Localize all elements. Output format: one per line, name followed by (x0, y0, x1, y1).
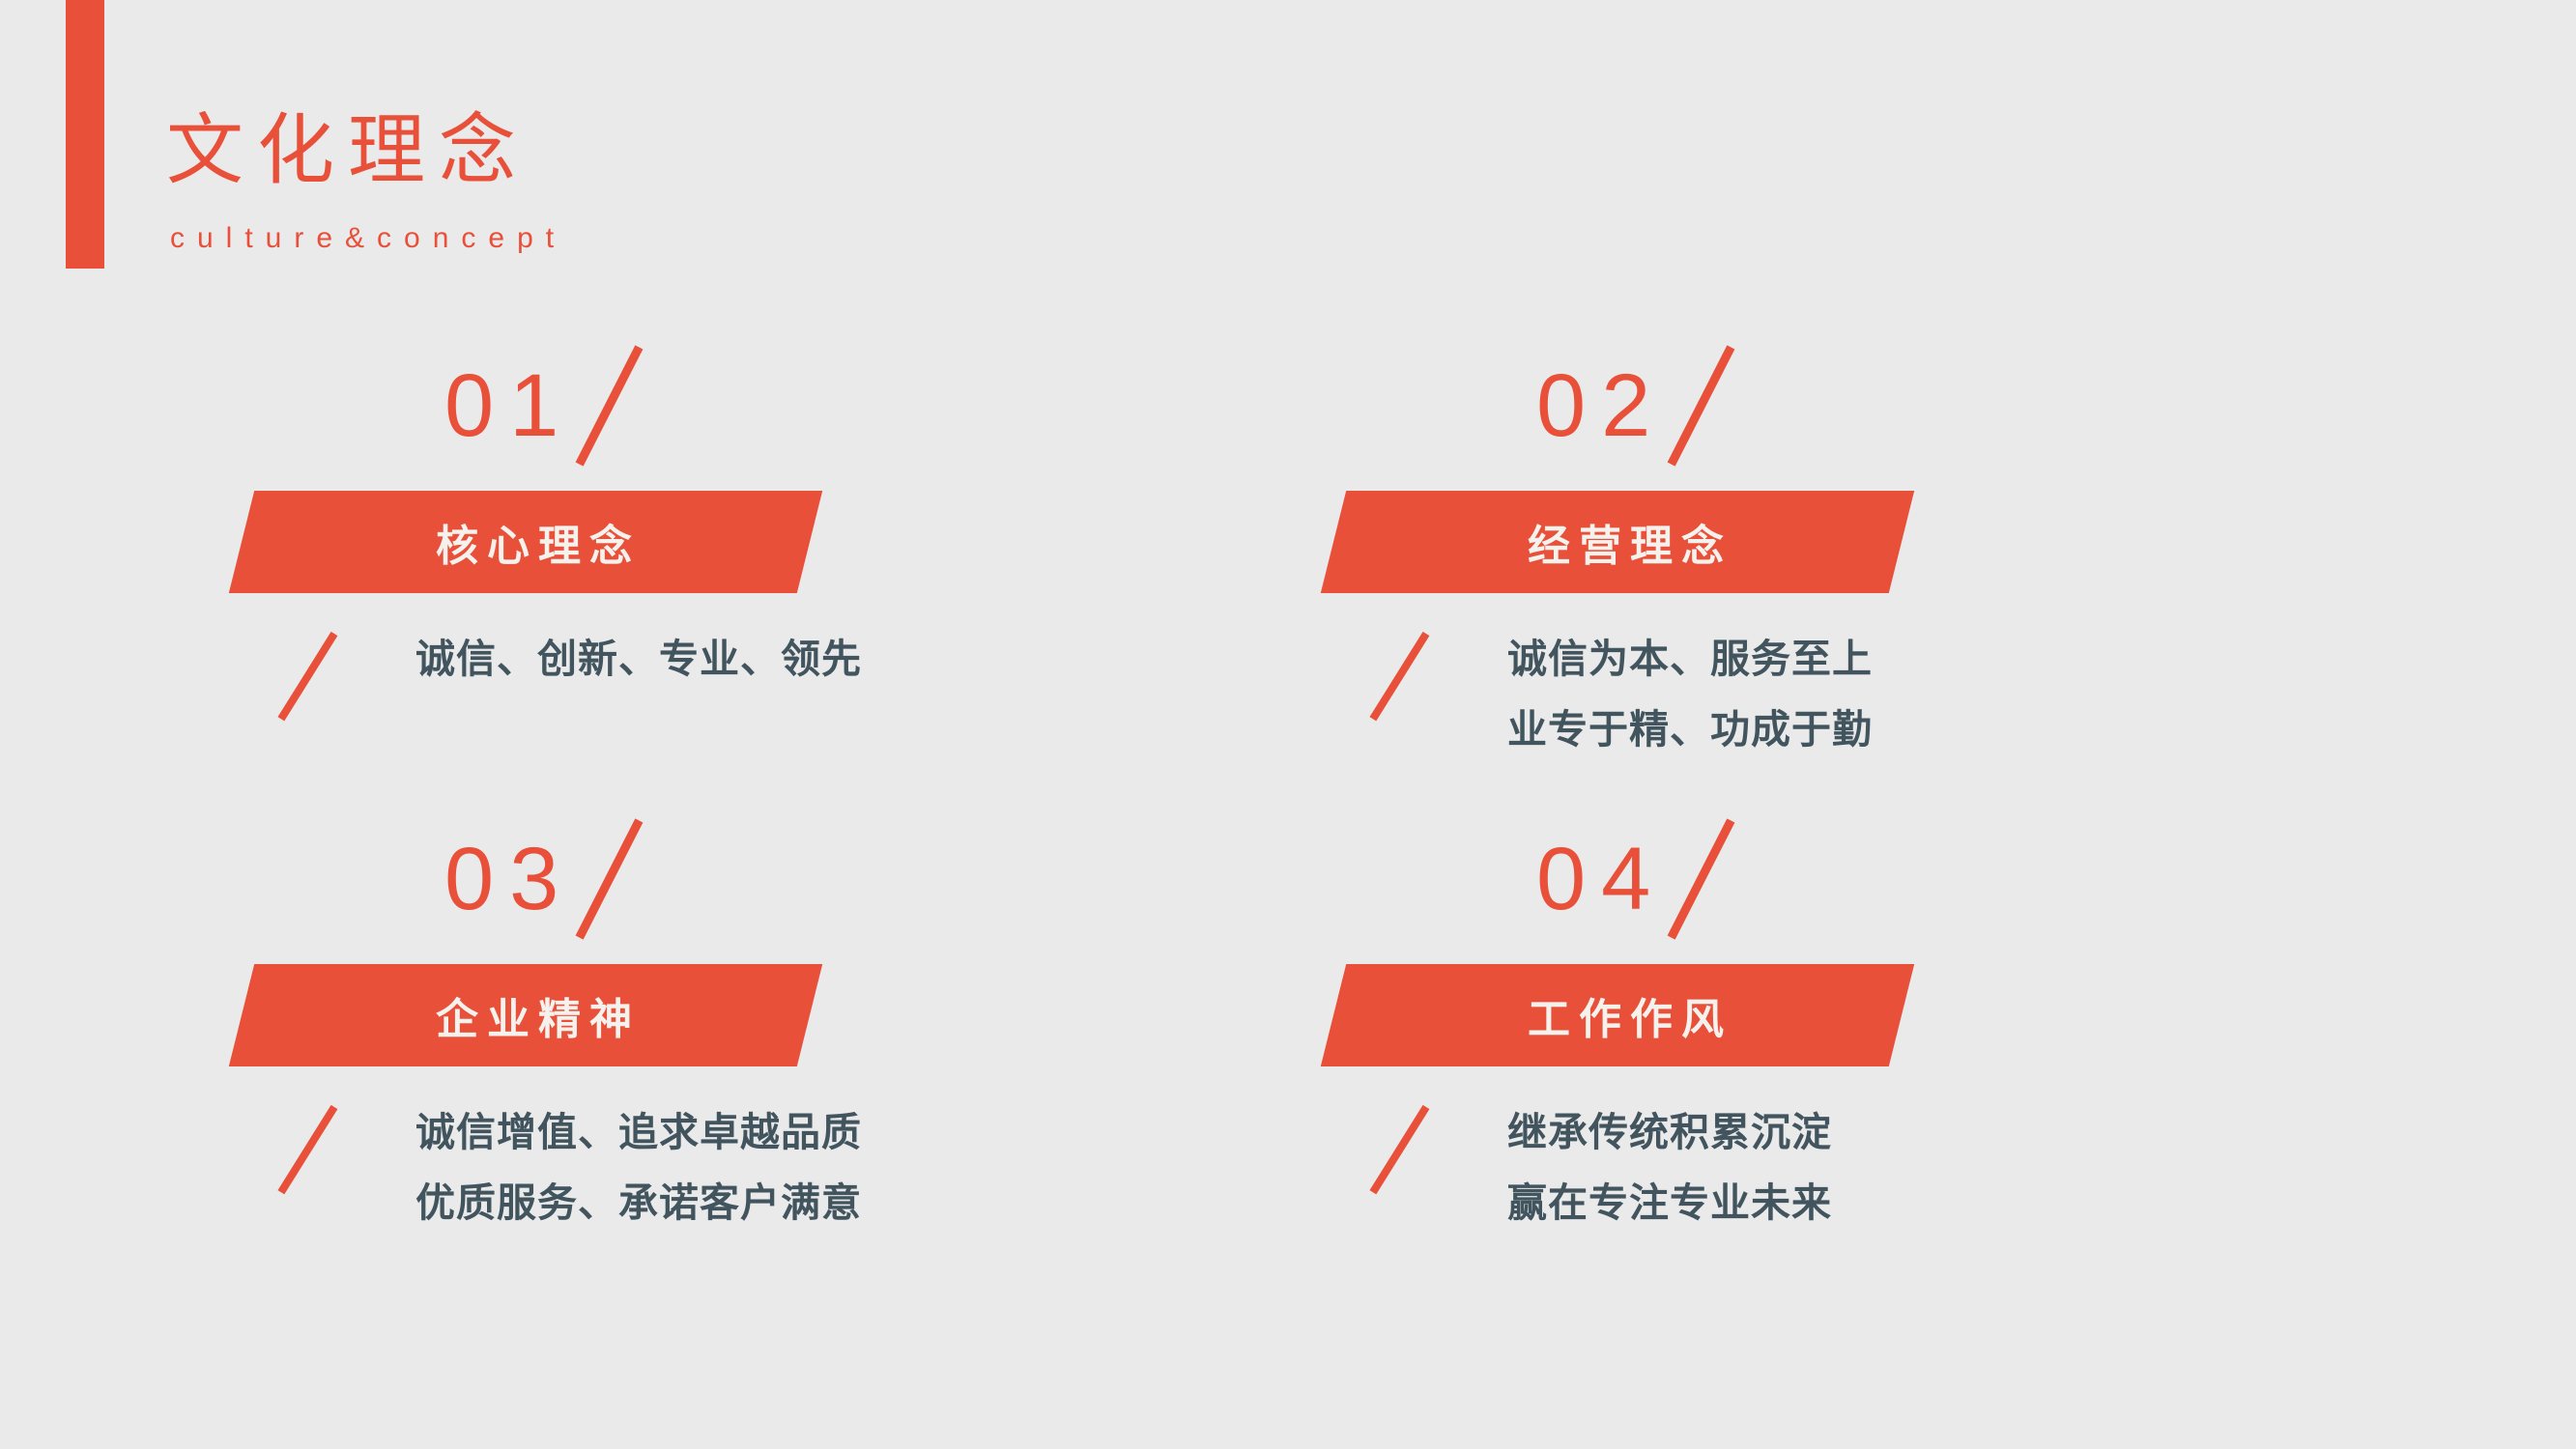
slash-icon (1666, 827, 1741, 931)
culture-card-04[interactable]: 04 工作作风 继承传统积累沉淀 赢在专注专业未来 (1256, 817, 2348, 1281)
slash-icon (277, 1105, 337, 1194)
card-banner-label: 核心理念 (242, 491, 810, 593)
card-banner-label: 企业精神 (242, 964, 810, 1066)
card-body-lines: 诚信为本、服务至上 业专于精、功成于勤 (1507, 624, 1873, 765)
slide-canvas: 文化理念 culture&concept 01 核心理念 诚信、创新、专业、领先… (0, 0, 2576, 1449)
card-number-row: 03 (444, 827, 649, 933)
card-number-row: 04 (1536, 827, 1741, 933)
culture-card-01[interactable]: 01 核心理念 诚信、创新、专业、领先 (164, 344, 1256, 808)
card-banner-label: 工作作风 (1333, 964, 1902, 1066)
card-body-line: 诚信、创新、专业、领先 (415, 624, 862, 695)
page-subtitle: culture&concept (170, 220, 566, 257)
card-body-line: 业专于精、功成于勤 (1507, 695, 1873, 765)
page-title: 文化理念 (166, 104, 530, 197)
slash-icon (1369, 632, 1429, 721)
card-body-lines: 继承传统积累沉淀 赢在专注专业未来 (1507, 1097, 1832, 1238)
card-body-line: 赢在专注专业未来 (1507, 1168, 1832, 1238)
card-body-line: 诚信增值、追求卓越品质 (415, 1097, 862, 1168)
slash-icon (1666, 354, 1741, 458)
card-banner[interactable]: 经营理念 (1321, 491, 1914, 593)
card-number: 02 (1536, 354, 1666, 458)
slash-icon (574, 827, 649, 931)
card-number: 04 (1536, 827, 1666, 931)
card-banner[interactable]: 核心理念 (229, 491, 822, 593)
card-banner[interactable]: 企业精神 (229, 964, 822, 1066)
card-number: 01 (444, 354, 574, 458)
card-body: 诚信增值、追求卓越品质 优质服务、承诺客户满意 (242, 1097, 1208, 1262)
card-body: 诚信为本、服务至上 业专于精、功成于勤 (1333, 624, 2300, 788)
slash-icon (1369, 1105, 1429, 1194)
culture-card-03[interactable]: 03 企业精神 诚信增值、追求卓越品质 优质服务、承诺客户满意 (164, 817, 1256, 1281)
card-body-line: 继承传统积累沉淀 (1507, 1097, 1832, 1168)
card-number-row: 01 (444, 354, 649, 460)
card-number-row: 02 (1536, 354, 1741, 460)
culture-card-grid: 01 核心理念 诚信、创新、专业、领先 02 经营理念 (0, 344, 2576, 1349)
slide-header: 文化理念 culture&concept (0, 0, 1159, 290)
card-number: 03 (444, 827, 574, 931)
card-body: 诚信、创新、专业、领先 (242, 624, 1208, 788)
card-body-lines: 诚信增值、追求卓越品质 优质服务、承诺客户满意 (415, 1097, 862, 1238)
card-banner-label: 经营理念 (1333, 491, 1902, 593)
culture-card-02[interactable]: 02 经营理念 诚信为本、服务至上 业专于精、功成于勤 (1256, 344, 2348, 808)
header-accent-bar (66, 0, 104, 269)
card-banner[interactable]: 工作作风 (1321, 964, 1914, 1066)
slash-icon (574, 354, 649, 458)
card-body-line: 诚信为本、服务至上 (1507, 624, 1873, 695)
card-body-line: 优质服务、承诺客户满意 (415, 1168, 862, 1238)
card-body-lines: 诚信、创新、专业、领先 (415, 624, 862, 695)
slash-icon (277, 632, 337, 721)
card-body: 继承传统积累沉淀 赢在专注专业未来 (1333, 1097, 2300, 1262)
